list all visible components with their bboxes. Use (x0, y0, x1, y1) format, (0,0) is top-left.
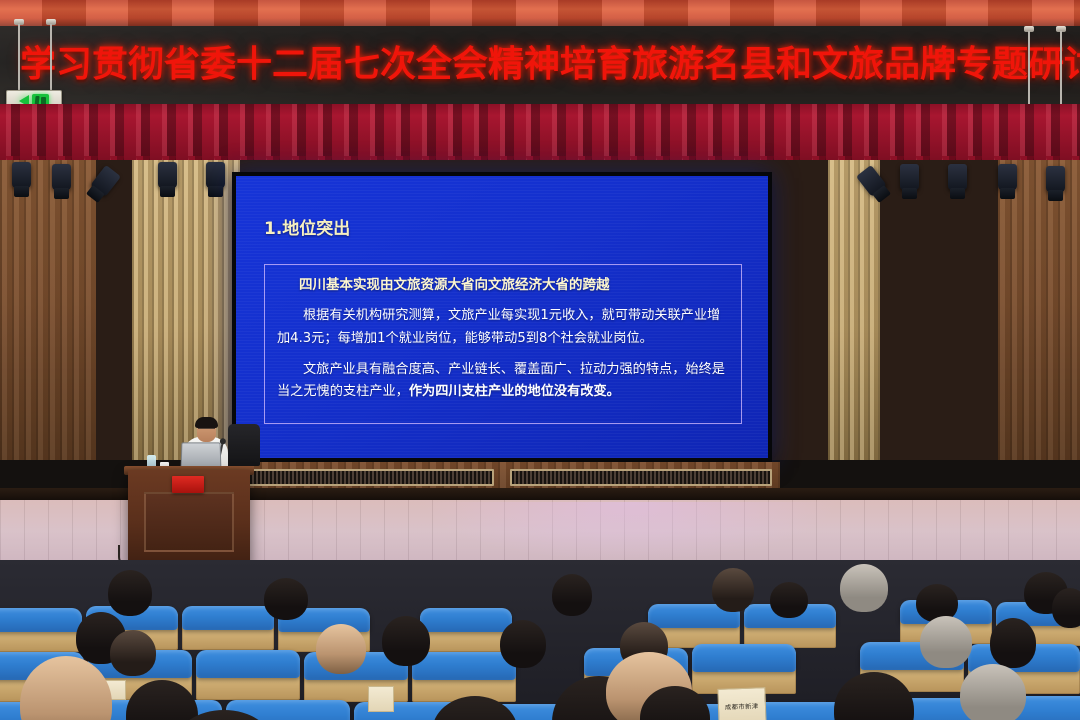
banner-text-content: 学习贯彻省委十二届七次全会精神培育旅游名县和文旅品牌专题研讨班 (20, 47, 1080, 83)
audience-head (264, 578, 308, 620)
stage-light (206, 162, 225, 188)
ceiling-panel (0, 0, 1080, 26)
slide-surface: 1.地位突出 四川基本实现由文旅资源大省向文旅经济大省的跨越 根据有关机构研究测… (236, 176, 768, 458)
stage-light (948, 164, 967, 190)
audience-head (990, 618, 1036, 668)
seat-card-text: 成都市新津 (725, 702, 759, 712)
slide-title: 1.地位突出 (264, 214, 350, 239)
audience-head (108, 570, 152, 616)
red-curtain-valance (0, 104, 1080, 162)
audience-head (382, 616, 430, 666)
slide-paragraph-2: 文旅产业具有融合度高、产业链长、覆盖面广、拉动力强的特点，始终是当之无愧的支柱产… (277, 359, 729, 404)
conference-banner-title: 学习贯彻省委十二届七次全会精神培育旅游名县和文旅品牌专题研讨班 (20, 38, 1072, 92)
slide-lead-text: 四川基本实现由文旅资源大省向文旅经济大省的跨越 (277, 275, 729, 295)
podium-front-panel (144, 492, 234, 552)
stage-light (158, 162, 177, 188)
stage-floor-reflection (420, 502, 840, 562)
audience-head (960, 664, 1026, 720)
speaker-chair (228, 424, 260, 466)
wood-panel (998, 160, 1080, 460)
audience-head (1052, 588, 1080, 628)
stage-light (998, 164, 1017, 190)
side-curtain-left (132, 160, 240, 460)
hanging-rod (18, 24, 20, 90)
stage-light (900, 164, 919, 190)
audience-head (552, 574, 592, 616)
led-presentation-screen: 1.地位突出 四川基本实现由文旅资源大省向文旅经济大省的跨越 根据有关机构研究测… (232, 172, 772, 462)
audience-head (500, 620, 546, 668)
stage-light (52, 164, 71, 190)
hanging-rod (1028, 31, 1030, 109)
podium-name-card (172, 476, 204, 493)
speaker-glasses (198, 428, 215, 432)
seat-back (182, 606, 274, 630)
audience-head (316, 624, 366, 674)
slide-paragraph-2-bold: 作为四川支柱产业的地位没有改变。 (409, 384, 620, 399)
seat-name-card: 成都市新津 (717, 687, 766, 720)
audience-head (110, 630, 156, 676)
air-vent-grille (240, 469, 494, 486)
audience-head (712, 568, 754, 612)
wood-panel (0, 160, 96, 460)
seat-name-card (368, 686, 394, 712)
hanging-rod (50, 24, 52, 90)
slide-content-box: 四川基本实现由文旅资源大省向文旅经济大省的跨越 根据有关机构研究测算，文旅产业每… (264, 264, 742, 424)
seat-back (196, 650, 300, 678)
audience-head (920, 616, 972, 668)
seat-back (0, 608, 82, 632)
stage-light (12, 162, 31, 188)
slide-paragraph-1: 根据有关机构研究测算，文旅产业每实现1元收入，就可带动关联产业增加4.3元；每增… (277, 305, 729, 350)
stage-light (1046, 166, 1065, 192)
auditorium-photo: 学习贯彻省委十二届七次全会精神培育旅游名县和文旅品牌专题研讨班 (0, 0, 1080, 720)
air-vent-grille (510, 469, 772, 486)
side-curtain-right (828, 160, 880, 460)
audience-seating-area: 成都市新津 (0, 560, 1080, 720)
hanging-rod (1060, 31, 1062, 109)
speaker-hair (195, 417, 218, 428)
seat-back (412, 652, 516, 680)
audience-head (840, 564, 888, 612)
seat-back (420, 608, 512, 632)
audience-head (770, 582, 808, 618)
seat-back (692, 644, 796, 672)
